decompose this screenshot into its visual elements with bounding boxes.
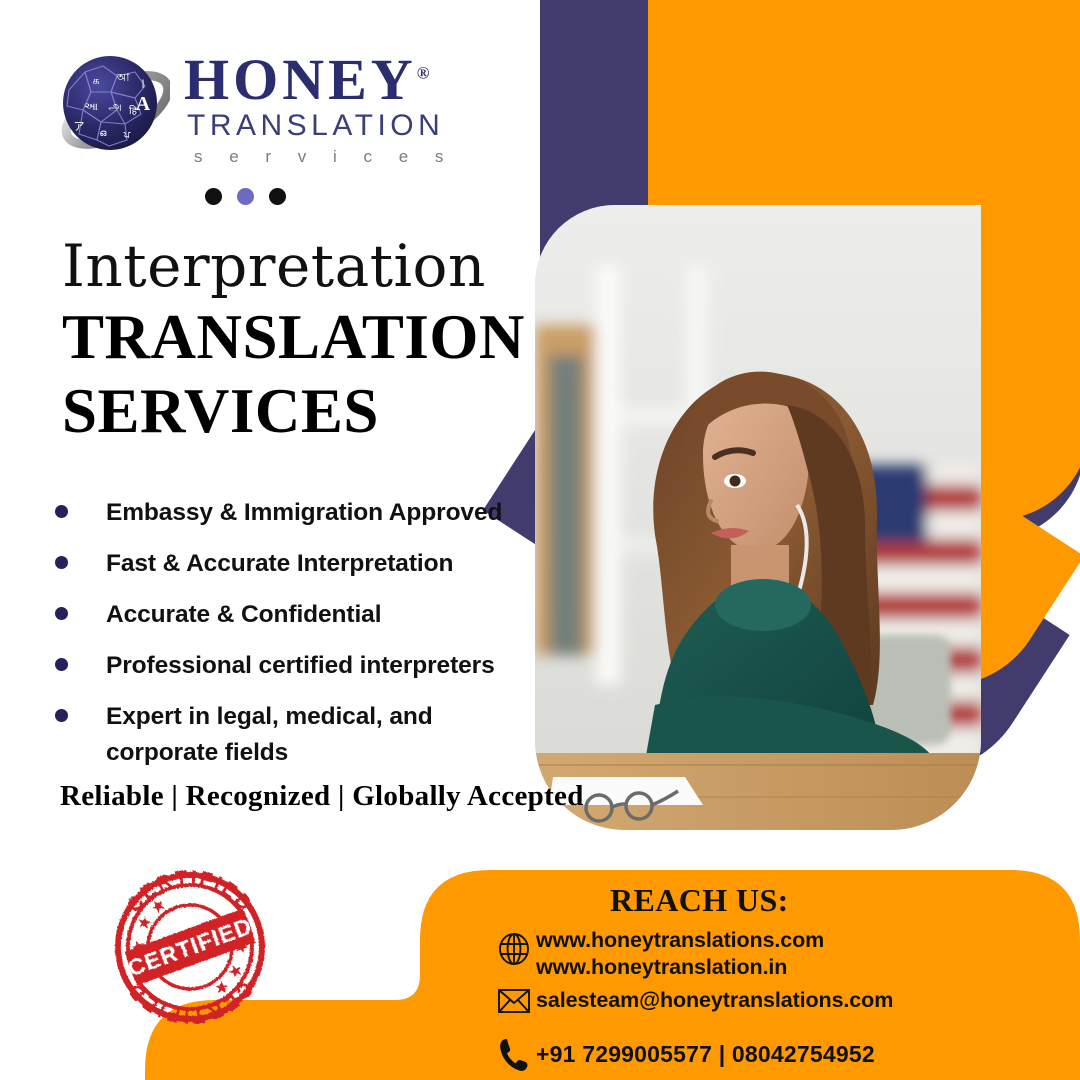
svg-text:ア: ア	[74, 120, 85, 133]
svg-text:ਪ: ਪ	[123, 130, 131, 141]
website-link-2[interactable]: www.honeytranslation.in	[536, 954, 824, 981]
list-item-label: Embassy & Immigration Approved	[106, 495, 502, 531]
hero-photo	[535, 205, 981, 830]
bullet-icon	[55, 505, 68, 518]
svg-text:அ: அ	[108, 99, 121, 113]
dot-3	[269, 188, 286, 205]
dot-2	[237, 188, 254, 205]
headline-bold-1: TRANSLATION	[62, 303, 525, 371]
website-link-1[interactable]: www.honeytranslations.com	[536, 927, 824, 954]
poster-canvas: க আ ا આ அ हि ア ഒ ਪ A HONEY® TRANSLATION …	[0, 0, 1080, 1080]
logo-wordmark: HONEY® TRANSLATION s e r v i c e s	[184, 48, 454, 167]
contact-details: REACH US: www.honeytranslations.com www.…	[0, 855, 1080, 1080]
logo-name: HONEY	[184, 47, 417, 112]
phone-number[interactable]: +91 7299005577 | 08042754952	[536, 1040, 875, 1069]
globe-logo-icon: க আ ا આ அ हि ア ഒ ਪ A	[55, 48, 170, 166]
list-item: Expert in legal, medical, and corporate …	[55, 699, 535, 771]
email-link[interactable]: salesteam@honeytranslations.com	[536, 987, 893, 1014]
list-item: Fast & Accurate Interpretation	[55, 546, 535, 582]
value-tagline: Reliable | Recognized | Globally Accepte…	[60, 780, 584, 813]
bullet-icon	[55, 607, 68, 620]
brand-logo[interactable]: க আ ا આ அ हि ア ഒ ਪ A HONEY® TRANSLATION …	[55, 48, 454, 167]
logo-tagline: s e r v i c e s	[184, 147, 454, 167]
svg-text:ഒ: ഒ	[99, 128, 107, 139]
list-item: Professional certified interpreters	[55, 648, 535, 684]
website-links[interactable]: www.honeytranslations.com www.honeytrans…	[536, 927, 824, 982]
list-item-label: Expert in legal, medical, and corporate …	[106, 699, 466, 771]
headline-block: Interpretation TRANSLATION SERVICES	[62, 236, 525, 445]
feature-list: Embassy & Immigration Approved Fast & Ac…	[55, 495, 535, 786]
list-item-label: Professional certified interpreters	[106, 648, 495, 684]
svg-text:ا: ا	[141, 78, 144, 91]
bullet-icon	[55, 556, 68, 569]
svg-text:க: க	[92, 74, 99, 87]
envelope-icon	[492, 987, 536, 1015]
registered-trademark-icon: ®	[417, 64, 430, 83]
svg-text:A: A	[136, 93, 151, 115]
list-item-label: Fast & Accurate Interpretation	[106, 546, 453, 582]
headline-bold-2: SERVICES	[62, 377, 525, 445]
globe-icon	[492, 932, 536, 966]
website-row[interactable]: www.honeytranslations.com www.honeytrans…	[492, 927, 824, 982]
list-item-label: Accurate & Confidential	[106, 597, 381, 633]
svg-text:আ: আ	[116, 71, 130, 84]
phone-icon	[492, 1038, 536, 1072]
phone-row[interactable]: +91 7299005577 | 08042754952	[492, 1038, 875, 1072]
decorative-dots	[205, 188, 286, 205]
list-item: Embassy & Immigration Approved	[55, 495, 535, 531]
logo-subtitle: TRANSLATION	[184, 107, 454, 145]
bullet-icon	[55, 658, 68, 671]
bullet-icon	[55, 709, 68, 722]
svg-text:આ: આ	[84, 100, 98, 113]
dot-1	[205, 188, 222, 205]
headline-script: Interpretation	[62, 236, 525, 297]
list-item: Accurate & Confidential	[55, 597, 535, 633]
reach-us-title: REACH US:	[610, 882, 789, 919]
email-row[interactable]: salesteam@honeytranslations.com	[492, 987, 893, 1015]
